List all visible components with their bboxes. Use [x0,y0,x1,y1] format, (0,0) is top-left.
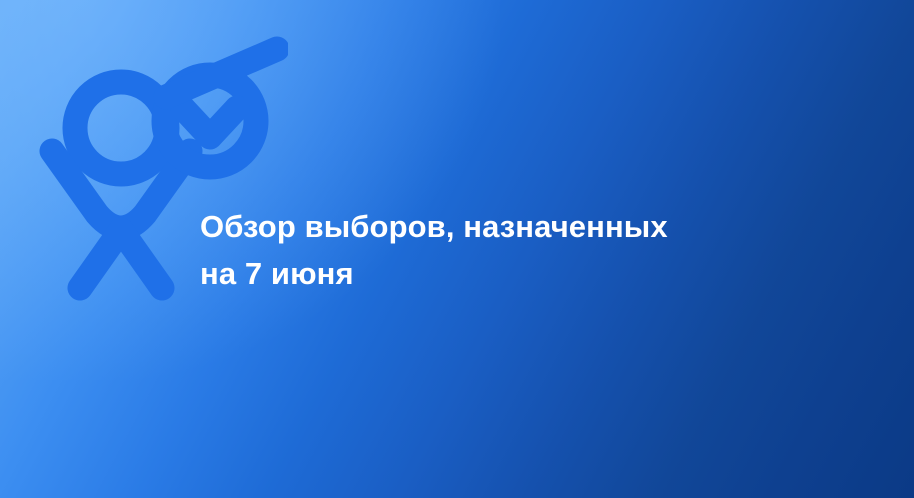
logo-checkmark-ring [164,75,256,167]
logo-checkmark-tick [183,108,237,137]
logo-head-circle [75,82,167,174]
banner-headline: Обзор выборов, назначенных на 7 июня [200,203,740,297]
logo-legs-chevron [80,230,162,288]
logo-checkmark-tail-stroke [166,49,277,97]
banner: Обзор выборов, назначенных на 7 июня [0,0,914,498]
logo-arms-curve [52,151,190,228]
